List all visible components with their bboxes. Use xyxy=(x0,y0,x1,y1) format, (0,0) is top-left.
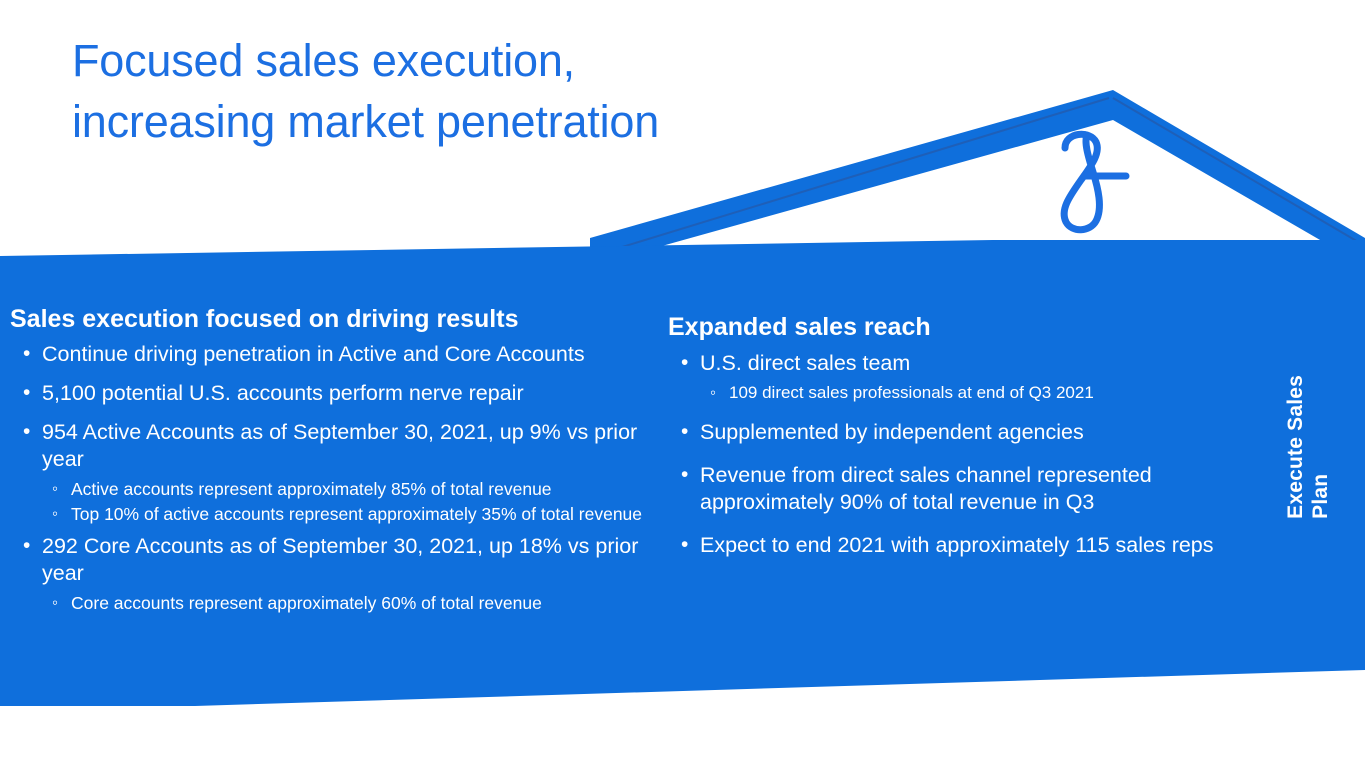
bullet-text: Supplemented by independent agencies xyxy=(700,420,1084,444)
sub-list-item: Active accounts represent approximately … xyxy=(42,477,650,501)
right-column-heading: Expanded sales reach xyxy=(668,311,1268,343)
left-column-heading: Sales execution focused on driving resul… xyxy=(10,303,650,335)
sub-bullet-list: Active accounts represent approximately … xyxy=(42,477,650,526)
pillar-banner-label: Execute Sales Plan xyxy=(1283,375,1333,519)
list-item: U.S. direct sales team 109 direct sales … xyxy=(668,350,1268,405)
left-bullet-list: Continue driving penetration in Active a… xyxy=(10,341,650,615)
axogen-glyph-pediment xyxy=(1064,134,1126,229)
execute-sales-plan-banner: Execute Sales Plan xyxy=(1284,322,1331,572)
bullet-text: 292 Core Accounts as of September 30, 20… xyxy=(42,534,638,585)
roof-highlight xyxy=(1113,98,1360,243)
bullet-text: Revenue from direct sales channel repres… xyxy=(700,463,1152,514)
list-item: 5,100 potential U.S. accounts perform ne… xyxy=(10,380,650,407)
sub-list-item: 109 direct sales professionals at end of… xyxy=(700,381,1268,405)
slide-footer: axogen® revolutionizing the science of n… xyxy=(0,706,1365,768)
bullet-text: Continue driving penetration in Active a… xyxy=(42,342,585,366)
list-item: 292 Core Accounts as of September 30, 20… xyxy=(10,533,650,615)
list-item: Continue driving penetration in Active a… xyxy=(10,341,650,368)
bullet-text: Expect to end 2021 with approximately 11… xyxy=(700,533,1214,557)
bullet-text: 5,100 potential U.S. accounts perform ne… xyxy=(42,381,524,405)
page-title: Focused sales execution, increasing mark… xyxy=(72,30,792,152)
list-item: Supplemented by independent agencies xyxy=(668,419,1268,446)
slide: Focused sales execution, increasing mark… xyxy=(0,0,1365,768)
list-item: Revenue from direct sales channel repres… xyxy=(668,462,1268,516)
sub-bullet-list: 109 direct sales professionals at end of… xyxy=(700,381,1268,405)
list-item: Expect to end 2021 with approximately 11… xyxy=(668,532,1268,559)
title-line-2: increasing market penetration xyxy=(72,91,792,152)
bullet-text: 954 Active Accounts as of September 30, … xyxy=(42,420,637,471)
sub-bullet-list: Core accounts represent approximately 60… xyxy=(42,591,650,615)
right-content-column: Expanded sales reach U.S. direct sales t… xyxy=(668,311,1268,575)
bullet-text: U.S. direct sales team xyxy=(700,351,910,375)
title-line-1: Focused sales execution, xyxy=(72,30,792,91)
list-item: 954 Active Accounts as of September 30, … xyxy=(10,419,650,526)
left-content-column: Sales execution focused on driving resul… xyxy=(10,303,650,622)
right-bullet-list: U.S. direct sales team 109 direct sales … xyxy=(668,350,1268,559)
sub-list-item: Top 10% of active accounts represent app… xyxy=(42,502,650,526)
sub-list-item: Core accounts represent approximately 60… xyxy=(42,591,650,615)
